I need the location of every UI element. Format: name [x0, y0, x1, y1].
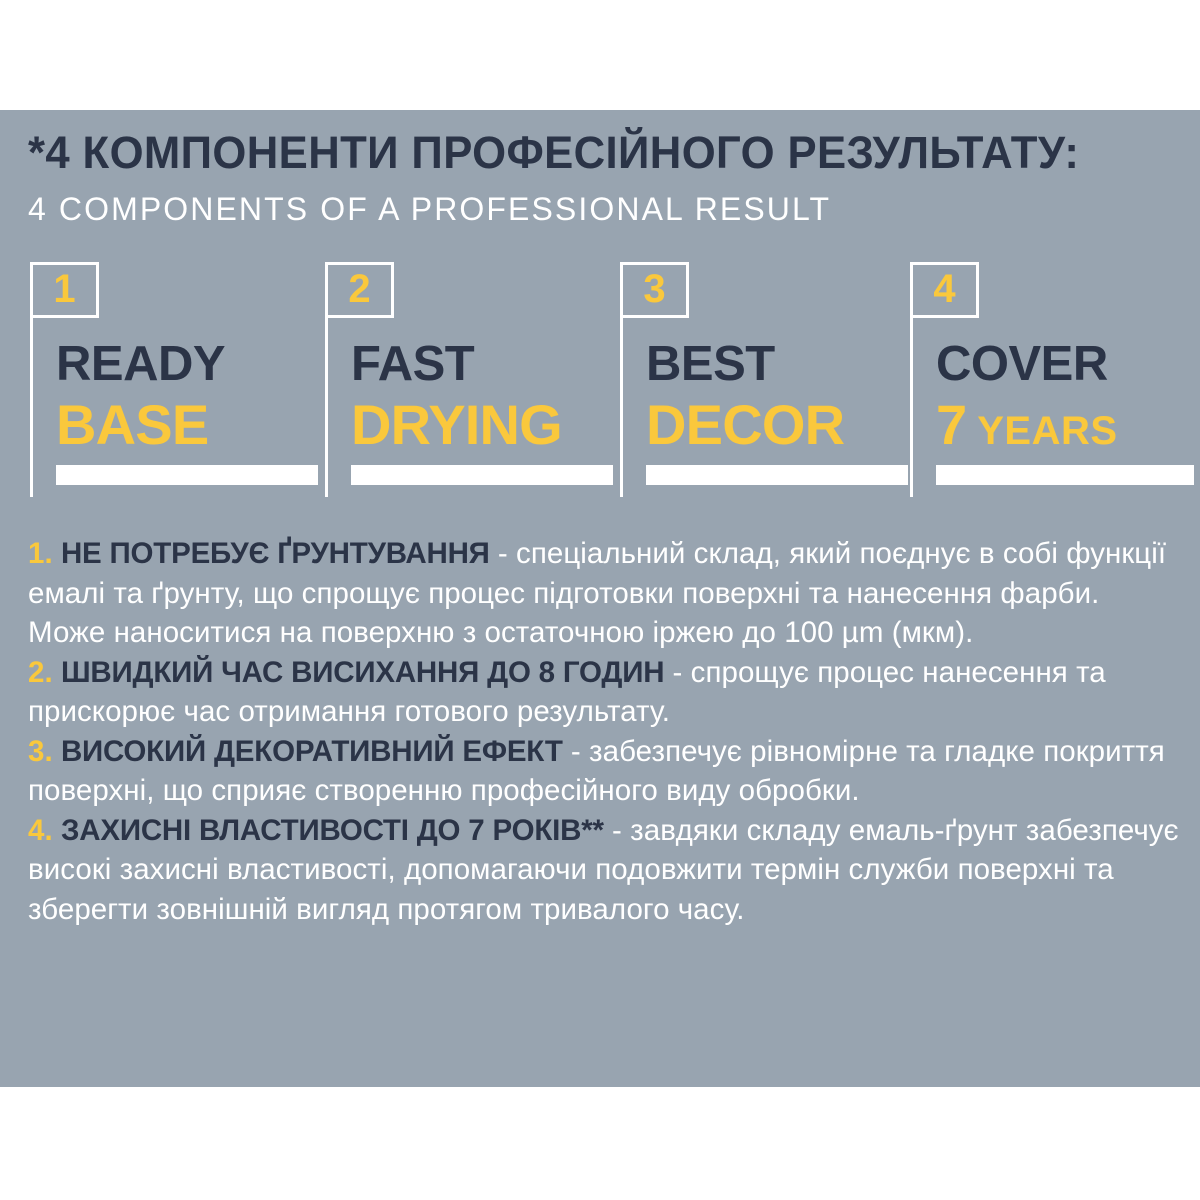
flag-underline-bar: [936, 465, 1194, 485]
flag-pole: [30, 318, 33, 497]
flag-number-box: 3: [620, 262, 689, 318]
flag-words: COVER7 YEARS: [936, 340, 1118, 453]
flag-word-top: BEST: [646, 340, 844, 389]
feature-item-lead: ЗАХИСНІ ВЛАСТИВОСТІ ДО 7 РОКІВ**: [61, 814, 604, 847]
flag-word-bottom: 7 YEARS: [936, 397, 1118, 453]
flag-pole: [910, 318, 913, 497]
header: *4 КОМПОНЕНТИ ПРОФЕСІЙНОГО РЕЗУЛЬТАТУ: 4…: [28, 130, 1178, 225]
feature-list-item: 4. ЗАХИСНІ ВЛАСТИВОСТІ ДО 7 РОКІВ** - за…: [28, 811, 1180, 930]
feature-item-lead: ШВИДКИЙ ЧАС ВИСИХАННЯ ДО 8 ГОДИН: [61, 656, 664, 689]
flag-words: BESTDECOR: [646, 340, 844, 453]
flag-words: READYBASE: [56, 340, 225, 453]
feature-list-item: 3. ВИСОКИЙ ДЕКОРАТИВНИЙ ЕФЕКТ - забезпеч…: [28, 732, 1180, 811]
flag-word-bottom: DRYING: [351, 397, 562, 453]
feature-list-item: 2. ШВИДКИЙ ЧАС ВИСИХАННЯ ДО 8 ГОДИН - сп…: [28, 653, 1180, 732]
flag-number: 4: [933, 269, 955, 309]
flag-number-box: 1: [30, 262, 99, 318]
feature-list-item: 1. НЕ ПОТРЕБУЄ ҐРУНТУВАННЯ - спеціальний…: [28, 534, 1180, 653]
flag-word-top: COVER: [936, 340, 1118, 389]
flag-underline-bar: [56, 465, 318, 485]
page-subtitle: 4 COMPONENTS OF A PROFESSIONAL RESULT: [28, 193, 1178, 225]
flag-number-box: 2: [325, 262, 394, 318]
feature-flags-row: 1READYBASE2FASTDRYING3BESTDECOR4COVER7 Y…: [0, 262, 1200, 497]
flag-word-top: READY: [56, 340, 225, 389]
flag-number-box: 4: [910, 262, 979, 318]
infographic-panel: *4 КОМПОНЕНТИ ПРОФЕСІЙНОГО РЕЗУЛЬТАТУ: 4…: [0, 110, 1200, 1087]
flag-underline-bar: [351, 465, 613, 485]
page-title: *4 КОМПОНЕНТИ ПРОФЕСІЙНОГО РЕЗУЛЬТАТУ:: [28, 130, 1144, 175]
flag-number: 3: [643, 269, 665, 309]
flag-number: 2: [348, 269, 370, 309]
flag-number: 1: [53, 269, 75, 309]
flag-word-top: FAST: [351, 340, 562, 389]
feature-item-index: 2.: [28, 656, 61, 689]
feature-item-lead: ВИСОКИЙ ДЕКОРАТИВНИЙ ЕФЕКТ: [61, 735, 563, 768]
feature-list: 1. НЕ ПОТРЕБУЄ ҐРУНТУВАННЯ - спеціальний…: [28, 534, 1180, 929]
flag-pole: [620, 318, 623, 497]
feature-item-lead: НЕ ПОТРЕБУЄ ҐРУНТУВАННЯ: [61, 537, 490, 570]
flag-underline-bar: [646, 465, 908, 485]
feature-item-index: 1.: [28, 537, 61, 570]
flag-word-bottom: BASE: [56, 397, 225, 453]
flag-word-bottom: DECOR: [646, 397, 844, 453]
feature-item-index: 3.: [28, 735, 61, 768]
flag-word-bottom-small: YEARS: [966, 409, 1117, 453]
flag-pole: [325, 318, 328, 497]
flag-words: FASTDRYING: [351, 340, 562, 453]
feature-item-index: 4.: [28, 814, 61, 847]
